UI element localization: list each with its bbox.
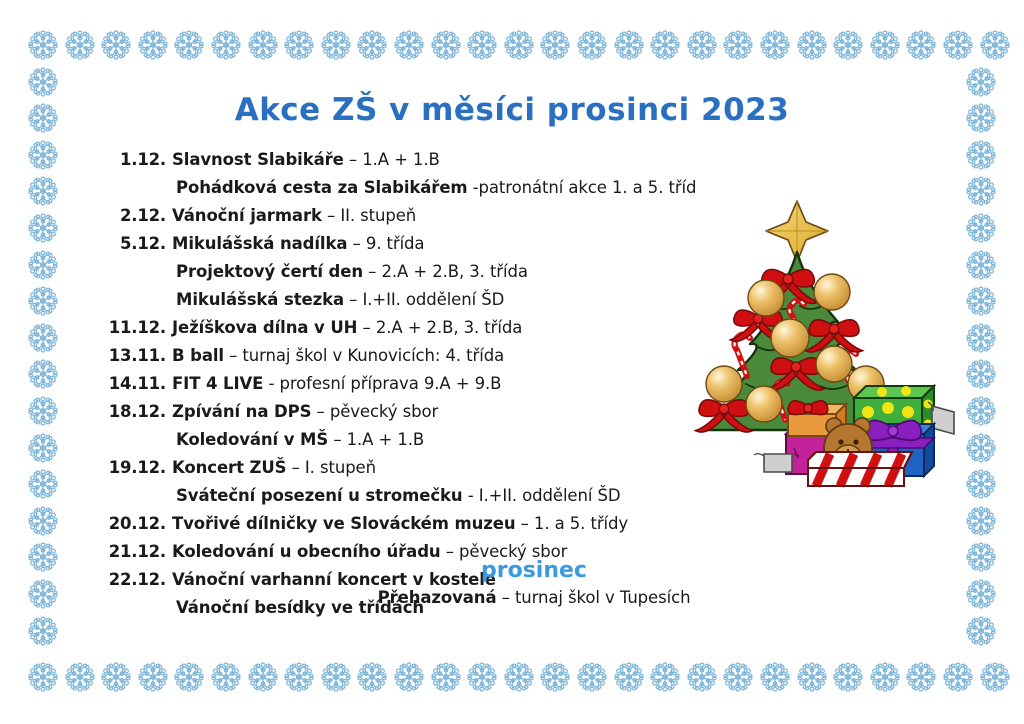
- snowflake-icon: [467, 662, 497, 692]
- snowflake-icon: [467, 30, 497, 60]
- event-name: Projektový čertí den: [176, 262, 363, 281]
- snowflake-icon: [431, 30, 461, 60]
- event-name: Sváteční posezení u stromečku: [176, 486, 463, 505]
- snowflake-icon: [614, 662, 644, 692]
- snowflake-icon: [966, 359, 996, 389]
- gift-striped: [808, 452, 912, 486]
- event-detail: – 2.A + 2.B, 3. třída: [363, 262, 528, 281]
- snowflake-icon: [943, 662, 973, 692]
- event-name: B ball: [172, 346, 224, 365]
- event-row: 20.12.Tvořivé dílničky ve Slováckém muze…: [104, 510, 704, 538]
- event-body: Mikulášská nadílka – 9. třída: [172, 230, 424, 258]
- event-detail: – pěvecký sbor: [311, 402, 438, 421]
- snowflake-icon: [504, 662, 534, 692]
- event-detail: – 1.A + 1.B: [328, 430, 424, 449]
- event-name: Mikulášská stezka: [176, 290, 344, 309]
- snowflake-icon: [28, 323, 58, 353]
- snowflake-icon: [577, 30, 607, 60]
- event-date: 2.12.: [104, 202, 166, 230]
- snowflake-icon: [28, 30, 58, 60]
- event-row: 5.12.Mikulášská nadílka – 9. třída: [104, 230, 704, 258]
- event-row: Koledování v MŠ – 1.A + 1.B: [104, 426, 704, 454]
- event-body: Slavnost Slabikáře – 1.A + 1.B: [172, 146, 440, 174]
- event-date: 5.12.: [104, 230, 166, 258]
- snowflake-icon: [966, 213, 996, 243]
- snowflake-icon: [614, 30, 644, 60]
- snowflake-icon: [28, 469, 58, 499]
- snowflake-icon: [906, 30, 936, 60]
- event-detail: – I.+II. oddělení ŠD: [344, 290, 504, 309]
- snowflake-icon: [966, 396, 996, 426]
- snowflake-icon: [906, 662, 936, 692]
- event-detail: – 9. třída: [347, 234, 424, 253]
- event-name: FIT 4 LIVE: [172, 374, 263, 393]
- event-date: 20.12.: [104, 510, 166, 538]
- snowflake-icon: [28, 250, 58, 280]
- snowflake-icon: [966, 469, 996, 499]
- snowflake-icon: [943, 30, 973, 60]
- event-body: Sváteční posezení u stromečku - I.+II. o…: [176, 482, 620, 510]
- snowflake-icon: [28, 662, 58, 692]
- event-detail: – II. stupeň: [322, 206, 416, 225]
- snowflake-icon: [833, 662, 863, 692]
- event-detail: – 2.A + 2.B, 3. třída: [357, 318, 522, 337]
- snowflake-icon: [797, 30, 827, 60]
- snowflake-icon: [870, 30, 900, 60]
- snowflake-icon: [966, 250, 996, 280]
- snowflake-icon: [540, 662, 570, 692]
- snowflake-icon: [760, 30, 790, 60]
- snowflake-icon: [321, 662, 351, 692]
- snowflake-icon: [966, 176, 996, 206]
- snowflake-icon: [211, 30, 241, 60]
- event-row: Pohádková cesta za Slabikářem -patronátn…: [104, 174, 704, 202]
- event-date: 18.12.: [104, 398, 166, 426]
- snowflake-icon: [723, 662, 753, 692]
- snowflake-icon: [284, 30, 314, 60]
- snowflake-icon: [966, 140, 996, 170]
- footer-event-detail: – turnaj škol v Tupesích: [497, 588, 691, 607]
- snowflake-icon: [760, 662, 790, 692]
- event-detail: – 1. a 5. třídy: [515, 514, 628, 533]
- event-body: Tvořivé dílničky ve Slováckém muzeu – 1.…: [172, 510, 628, 538]
- event-date: 14.11.: [104, 370, 166, 398]
- snowflake-icon: [966, 433, 996, 463]
- snowflake-icon: [650, 30, 680, 60]
- footer-month-label: prosinec: [0, 558, 1024, 583]
- event-body: Zpívání na DPS – pěvecký sbor: [172, 398, 438, 426]
- snowflake-icon: [28, 616, 58, 646]
- event-body: Vánoční jarmark – II. stupeň: [172, 202, 416, 230]
- event-row: Projektový čertí den – 2.A + 2.B, 3. tří…: [104, 258, 704, 286]
- snowflake-icon: [28, 176, 58, 206]
- snowflake-icon: [870, 662, 900, 692]
- snowflake-icon: [28, 506, 58, 536]
- event-name: Vánoční jarmark: [172, 206, 322, 225]
- snowflake-icon: [284, 662, 314, 692]
- snowflake-icon: [65, 30, 95, 60]
- event-row: Sváteční posezení u stromečku - I.+II. o…: [104, 482, 704, 510]
- event-detail: - I.+II. oddělení ŠD: [463, 486, 621, 505]
- snowflake-icon: [966, 616, 996, 646]
- snowflake-icon: [28, 140, 58, 170]
- snowflake-icon: [577, 662, 607, 692]
- event-row: 19.12.Koncert ZUŠ – I. stupeň: [104, 454, 704, 482]
- snowflake-icon: [138, 662, 168, 692]
- snowflake-icon: [833, 30, 863, 60]
- snowflake-icon: [174, 662, 204, 692]
- snowflake-icon: [394, 662, 424, 692]
- event-date: 1.12.: [104, 146, 166, 174]
- snowflake-icon: [980, 662, 1010, 692]
- event-body: Koncert ZUŠ – I. stupeň: [172, 454, 376, 482]
- event-detail: – 1.A + 1.B: [344, 150, 440, 169]
- snowflake-icon: [797, 662, 827, 692]
- snowflake-icon: [540, 30, 570, 60]
- event-list: 1.12.Slavnost Slabikáře – 1.A + 1.BPohád…: [104, 146, 704, 622]
- event-detail: – I. stupeň: [286, 458, 376, 477]
- christmas-tree-illustration: [676, 186, 968, 491]
- snowflake-icon: [966, 506, 996, 536]
- event-detail: - profesní příprava 9.A + 9.B: [263, 374, 501, 393]
- event-row: 13.11.B ball – turnaj škol v Kunovicích:…: [104, 342, 704, 370]
- snowflake-icon: [321, 30, 351, 60]
- event-body: FIT 4 LIVE - profesní příprava 9.A + 9.B: [172, 370, 501, 398]
- event-row: Mikulášská stezka – I.+II. oddělení ŠD: [104, 286, 704, 314]
- event-row: 14.11.FIT 4 LIVE - profesní příprava 9.A…: [104, 370, 704, 398]
- event-detail: -patronátní akce 1. a 5. tříd: [468, 178, 697, 197]
- event-name: Koledování v MŠ: [176, 430, 328, 449]
- gift-tag-left: [754, 454, 792, 472]
- event-date: 13.11.: [104, 342, 166, 370]
- snowflake-icon: [504, 30, 534, 60]
- event-row: 1.12.Slavnost Slabikáře – 1.A + 1.B: [104, 146, 704, 174]
- event-name: Koncert ZUŠ: [172, 458, 286, 477]
- snowflake-icon: [28, 359, 58, 389]
- event-row: 2.12.Vánoční jarmark – II. stupeň: [104, 202, 704, 230]
- snowflake-icon: [101, 662, 131, 692]
- snowflake-icon: [431, 662, 461, 692]
- event-name: Ježíškova dílna v UH: [172, 318, 357, 337]
- event-body: Koledování v MŠ – 1.A + 1.B: [176, 426, 424, 454]
- snowflake-icon: [65, 662, 95, 692]
- snowflake-icon: [980, 30, 1010, 60]
- snowflake-icon: [966, 286, 996, 316]
- snowflake-icon: [357, 30, 387, 60]
- poster-page: Akce ZŠ v měsíci prosinci 2023 1.12.Slav…: [0, 0, 1024, 724]
- footer-event-name: Přehazovaná: [378, 588, 497, 607]
- event-date: 11.12.: [104, 314, 166, 342]
- snowflake-icon: [174, 30, 204, 60]
- snowflake-icon: [248, 30, 278, 60]
- snowflake-icon: [394, 30, 424, 60]
- snowflake-icon: [138, 30, 168, 60]
- event-body: Mikulášská stezka – I.+II. oddělení ŠD: [176, 286, 504, 314]
- snowflake-icon: [650, 662, 680, 692]
- snowflake-icon: [28, 396, 58, 426]
- event-body: Projektový čertí den – 2.A + 2.B, 3. tří…: [176, 258, 528, 286]
- event-row: 18.12.Zpívání na DPS – pěvecký sbor: [104, 398, 704, 426]
- snowflake-icon: [687, 662, 717, 692]
- event-name: Slavnost Slabikáře: [172, 150, 344, 169]
- event-body: Pohádková cesta za Slabikářem -patronátn…: [176, 174, 696, 202]
- event-name: Zpívání na DPS: [172, 402, 311, 421]
- snowflake-icon: [966, 323, 996, 353]
- snowflake-icon: [723, 30, 753, 60]
- event-date: 19.12.: [104, 454, 166, 482]
- snowflake-icon: [248, 662, 278, 692]
- snowflake-icon: [211, 662, 241, 692]
- footer-event: Přehazovaná – turnaj škol v Tupesích: [0, 588, 1024, 607]
- snowflake-icon: [687, 30, 717, 60]
- snowflake-icon: [28, 213, 58, 243]
- event-row: 11.12.Ježíškova dílna v UH – 2.A + 2.B, …: [104, 314, 704, 342]
- event-body: B ball – turnaj škol v Kunovicích: 4. tř…: [172, 342, 504, 370]
- event-name: Pohádková cesta za Slabikářem: [176, 178, 468, 197]
- snowflake-icon: [28, 433, 58, 463]
- event-detail: – turnaj škol v Kunovicích: 4. třída: [224, 346, 504, 365]
- page-title: Akce ZŠ v měsíci prosinci 2023: [0, 92, 1024, 128]
- snowflake-icon: [357, 662, 387, 692]
- snowflake-icon: [28, 286, 58, 316]
- snowflake-icon: [101, 30, 131, 60]
- event-body: Ježíškova dílna v UH – 2.A + 2.B, 3. tří…: [172, 314, 522, 342]
- event-name: Mikulášská nadílka: [172, 234, 347, 253]
- event-name: Tvořivé dílničky ve Slováckém muzeu: [172, 514, 515, 533]
